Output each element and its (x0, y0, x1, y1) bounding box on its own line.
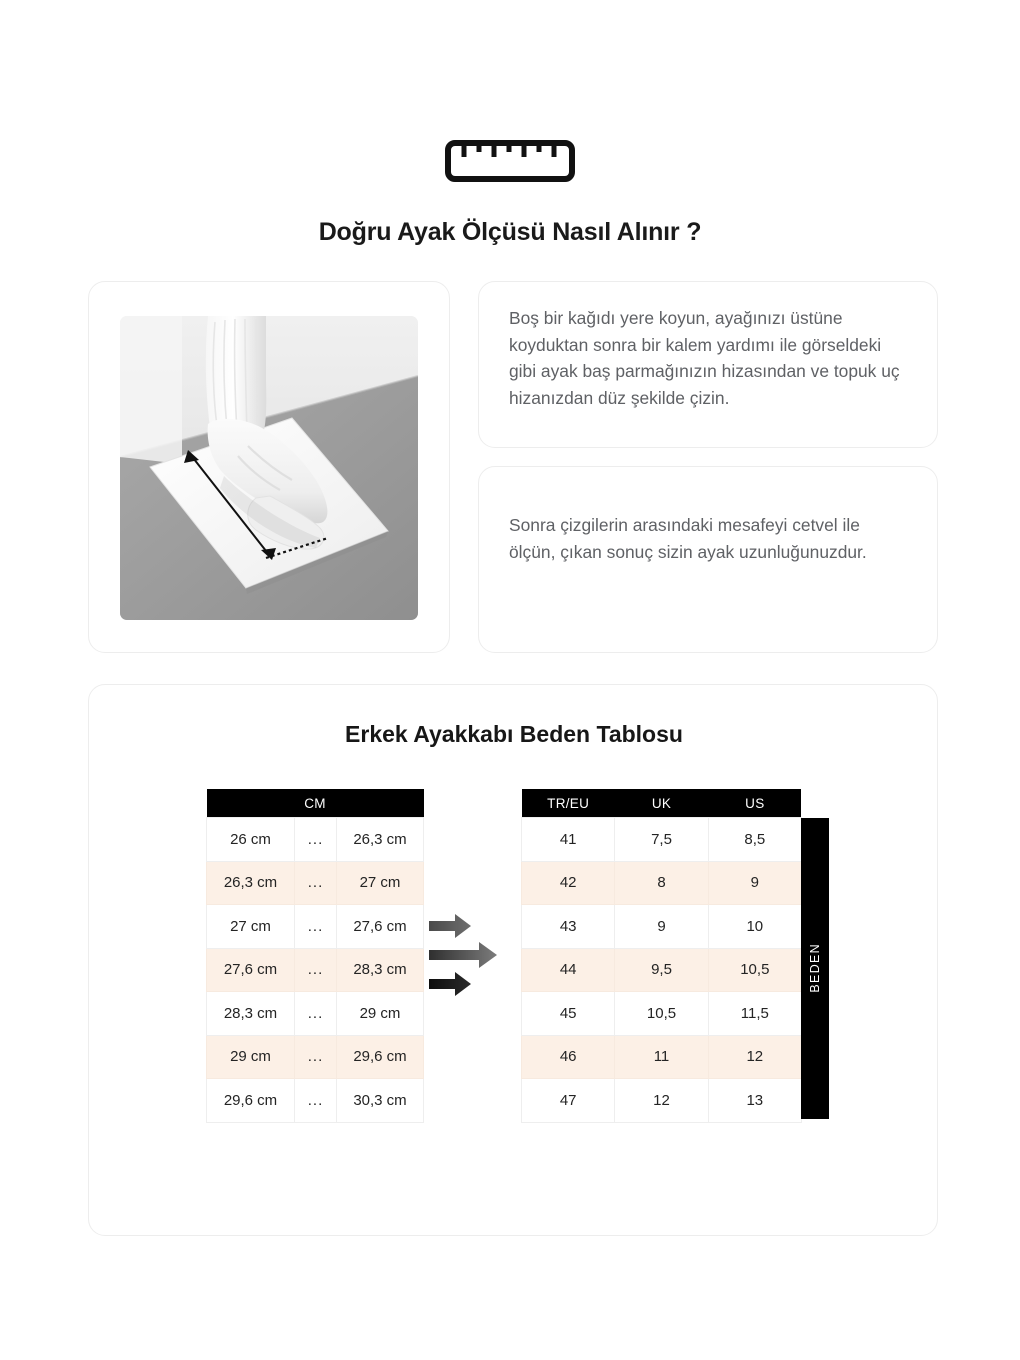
table-row[interactable]: 27,6 cm ... 28,3 cm (207, 948, 424, 992)
table-row[interactable]: 26,3 cm ... 27 cm (207, 861, 424, 905)
size-grid-header-treu: TR/EU (522, 789, 615, 818)
cm-from: 27 cm (207, 905, 295, 949)
cm-separator: ... (295, 861, 337, 905)
size-uk: 7,5 (615, 818, 708, 862)
size-treu: 46 (522, 1035, 615, 1079)
table-row[interactable]: 29,6 cm ... 30,3 cm (207, 1079, 424, 1123)
size-guide-page: Doğru Ayak Ölçüsü Nasıl Alınır ? (0, 0, 1020, 1360)
size-uk: 11 (615, 1035, 708, 1079)
conversion-arrows-icon (427, 907, 519, 1007)
table-row[interactable]: 28,3 cm ... 29 cm (207, 992, 424, 1036)
cm-to: 27,6 cm (337, 905, 424, 949)
size-treu: 47 (522, 1079, 615, 1123)
size-us: 10 (708, 905, 801, 949)
size-treu: 43 (522, 905, 615, 949)
table-row[interactable]: 27 cm ... 27,6 cm (207, 905, 424, 949)
size-treu: 45 (522, 992, 615, 1036)
size-table-title: Erkek Ayakkabı Beden Tablosu (89, 721, 939, 748)
cm-to: 26,3 cm (337, 818, 424, 862)
size-treu: 42 (522, 861, 615, 905)
cm-separator: ... (295, 905, 337, 949)
cm-table: CM 26 cm ... 26,3 cm 26,3 cm ... 27 cm (206, 789, 424, 1123)
size-tables-container: CM 26 cm ... 26,3 cm 26,3 cm ... 27 cm (89, 789, 939, 1119)
cm-to: 29,6 cm (337, 1035, 424, 1079)
cm-separator: ... (295, 1035, 337, 1079)
cm-separator: ... (295, 818, 337, 862)
cm-table-body: 26 cm ... 26,3 cm 26,3 cm ... 27 cm 27 c… (207, 818, 424, 1123)
cm-separator: ... (295, 992, 337, 1036)
size-grid-body: 41 7,5 8,5 42 8 9 43 9 10 (522, 818, 802, 1123)
table-row[interactable]: 46 11 12 (522, 1035, 802, 1079)
table-row[interactable]: 47 12 13 (522, 1079, 802, 1123)
table-row[interactable]: 44 9,5 10,5 (522, 948, 802, 992)
cm-to: 29 cm (337, 992, 424, 1036)
instruction-card-2: Sonra çizgilerin arasındaki mesafeyi cet… (478, 466, 938, 653)
size-grid-header-uk: UK (615, 789, 708, 818)
cm-from: 27,6 cm (207, 948, 295, 992)
size-us: 10,5 (708, 948, 801, 992)
table-row[interactable]: 43 9 10 (522, 905, 802, 949)
table-row[interactable]: 45 10,5 11,5 (522, 992, 802, 1036)
cm-from: 29,6 cm (207, 1079, 295, 1123)
cm-to: 28,3 cm (337, 948, 424, 992)
instruction-text-2: Sonra çizgilerin arasındaki mesafeyi cet… (509, 512, 909, 565)
table-row[interactable]: 41 7,5 8,5 (522, 818, 802, 862)
cm-to: 27 cm (337, 861, 424, 905)
size-grid-wrapper: TR/EU UK US 41 7,5 8,5 42 8 (521, 789, 801, 1123)
page-title: Doğru Ayak Ölçüsü Nasıl Alınır ? (0, 218, 1020, 247)
cm-separator: ... (295, 948, 337, 992)
cm-from: 26 cm (207, 818, 295, 862)
size-treu: 41 (522, 818, 615, 862)
size-treu: 44 (522, 948, 615, 992)
size-uk: 8 (615, 861, 708, 905)
cm-from: 28,3 cm (207, 992, 295, 1036)
cm-separator: ... (295, 1079, 337, 1123)
foot-measure-photo (120, 316, 418, 620)
table-row[interactable]: 42 8 9 (522, 861, 802, 905)
photo-card (88, 281, 450, 653)
size-us: 13 (708, 1079, 801, 1123)
beden-label-bar: BEDEN (801, 818, 829, 1119)
cm-table-header-row: CM (207, 789, 424, 818)
cm-from: 29 cm (207, 1035, 295, 1079)
size-uk: 9,5 (615, 948, 708, 992)
cm-from: 26,3 cm (207, 861, 295, 905)
cm-to: 30,3 cm (337, 1079, 424, 1123)
size-grid-header-row: TR/EU UK US (522, 789, 802, 818)
ruler-icon (445, 140, 575, 182)
cm-table-wrapper: CM 26 cm ... 26,3 cm 26,3 cm ... 27 cm (206, 789, 423, 1123)
size-grid-header-us: US (708, 789, 801, 818)
size-uk: 10,5 (615, 992, 708, 1036)
size-grid-table: TR/EU UK US 41 7,5 8,5 42 8 (521, 789, 802, 1123)
table-row[interactable]: 29 cm ... 29,6 cm (207, 1035, 424, 1079)
size-us: 8,5 (708, 818, 801, 862)
cm-table-header: CM (207, 789, 424, 818)
size-uk: 12 (615, 1079, 708, 1123)
beden-label: BEDEN (808, 943, 822, 993)
instruction-text-1: Boş bir kağıdı yere koyun, ayağınızı üst… (509, 305, 909, 411)
table-row[interactable]: 26 cm ... 26,3 cm (207, 818, 424, 862)
size-table-card: Erkek Ayakkabı Beden Tablosu CM 26 cm ..… (88, 684, 938, 1236)
size-us: 9 (708, 861, 801, 905)
size-uk: 9 (615, 905, 708, 949)
ruler-icon-container (0, 140, 1020, 182)
size-us: 12 (708, 1035, 801, 1079)
instruction-card-1: Boş bir kağıdı yere koyun, ayağınızı üst… (478, 281, 938, 448)
size-us: 11,5 (708, 992, 801, 1036)
